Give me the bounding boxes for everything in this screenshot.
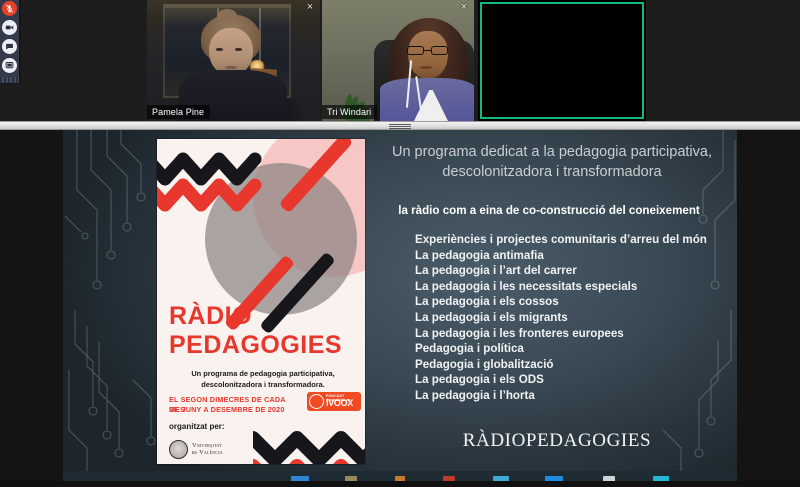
slide-topic-item: Pedagogia i globalització xyxy=(415,357,715,373)
microphone-muted-icon xyxy=(5,4,14,13)
slide-topic-item: Experiències i projectes comunitaris d’a… xyxy=(415,232,715,248)
presentation-slide: RÀDIO PEDAGOGIES Un programa de pedagogi… xyxy=(63,130,737,471)
present-button[interactable] xyxy=(2,58,17,73)
slide-topic-list: Experiències i projectes comunitaris d’a… xyxy=(415,232,715,404)
microphone-mute-button[interactable] xyxy=(2,1,17,16)
slide-topic-item: La pedagogia i l’horta xyxy=(415,388,715,404)
slide-topic-item: La pedagogia i els cossos xyxy=(415,294,715,310)
slide-footer-title: RÀDIOPEDAGOGIES xyxy=(381,430,733,452)
poster-date-line2: DE JUNY A DESEMBRE DE 2020 xyxy=(169,405,301,415)
video-conference-screen: × Pamela Pine × xyxy=(0,0,800,487)
participant-tile-tri-windari[interactable]: × Tri Windari xyxy=(322,0,474,121)
participant-tile-pamela-pine[interactable]: × Pamela Pine xyxy=(147,0,320,121)
slide-topic-item: Pedagogia i política xyxy=(415,341,715,357)
participant-name-label: Tri Windari xyxy=(322,105,377,119)
university-seal-icon xyxy=(169,440,188,459)
slide-topic-item: La pedagogia i les necessitats especials xyxy=(415,279,715,295)
university-wordmark: Vniverşitat ƀѕ València xyxy=(192,442,223,457)
chat-bubble-icon xyxy=(5,42,14,51)
toolbar-grip xyxy=(0,77,19,83)
active-speaker-border xyxy=(480,2,644,119)
ivoox-podcast-badge: PODCAST disponible en iVOOX xyxy=(307,392,361,411)
participant-video-strip: × Pamela Pine × xyxy=(0,0,800,121)
participant-tile-active-speaker[interactable] xyxy=(478,0,646,121)
poster-title-line1: RÀDIO xyxy=(169,302,365,331)
panel-splitter[interactable] xyxy=(0,121,800,130)
screen-share-icon xyxy=(5,61,14,70)
chat-button[interactable] xyxy=(2,39,17,54)
close-tile-icon[interactable]: × xyxy=(458,2,470,14)
close-tile-icon[interactable]: × xyxy=(304,2,316,14)
university-line2: ƀѕ València xyxy=(192,449,223,456)
meeting-toolbar xyxy=(0,0,19,83)
poster-title-line2: PEDAGOGIES xyxy=(169,331,365,360)
ivoox-badge-wordmark: iVOOX xyxy=(326,398,353,408)
participant-name-label: Pamela Pine xyxy=(147,105,210,119)
university-of-valencia-logo: Vniverşitat ƀѕ València xyxy=(169,438,265,460)
window-bottom-edge xyxy=(0,481,800,487)
poster-subtitle: Un programa de pedagogia participativa, … xyxy=(169,368,357,390)
slide-text-column: Un programa dedicat a la pedagogia parti… xyxy=(381,130,733,471)
radio-pedagogies-poster: RÀDIO PEDAGOGIES Un programa de pedagogi… xyxy=(157,139,365,464)
poster-zigzag-top xyxy=(157,145,267,215)
person-figure xyxy=(382,18,474,121)
slide-topic-item: La pedagogia antimafia xyxy=(415,248,715,264)
slide-topic-item: La pedagogia i l’art del carrer xyxy=(415,263,715,279)
university-line1: Vniverşitat xyxy=(192,442,223,449)
video-camera-icon xyxy=(5,23,14,32)
slide-heading: Un programa dedicat a la pedagogia parti… xyxy=(391,142,713,182)
slide-subheading: la ràdio com a eina de co-construcció de… xyxy=(381,204,717,217)
shared-screen-area: RÀDIO PEDAGOGIES Un programa de pedagogi… xyxy=(0,130,800,487)
camera-button[interactable] xyxy=(2,20,17,35)
slide-topic-item: La pedagogia i els ODS xyxy=(415,372,715,388)
microphone-icon xyxy=(309,394,324,409)
poster-zigzag-bottom xyxy=(253,420,365,464)
slide-topic-item: La pedagogia i les fronteres europees xyxy=(415,326,715,342)
poster-organized-by-label: organitzat per: xyxy=(169,422,225,431)
slide-topic-item: La pedagogia i els migrants xyxy=(415,310,715,326)
splitter-grip-handle[interactable] xyxy=(389,124,411,129)
